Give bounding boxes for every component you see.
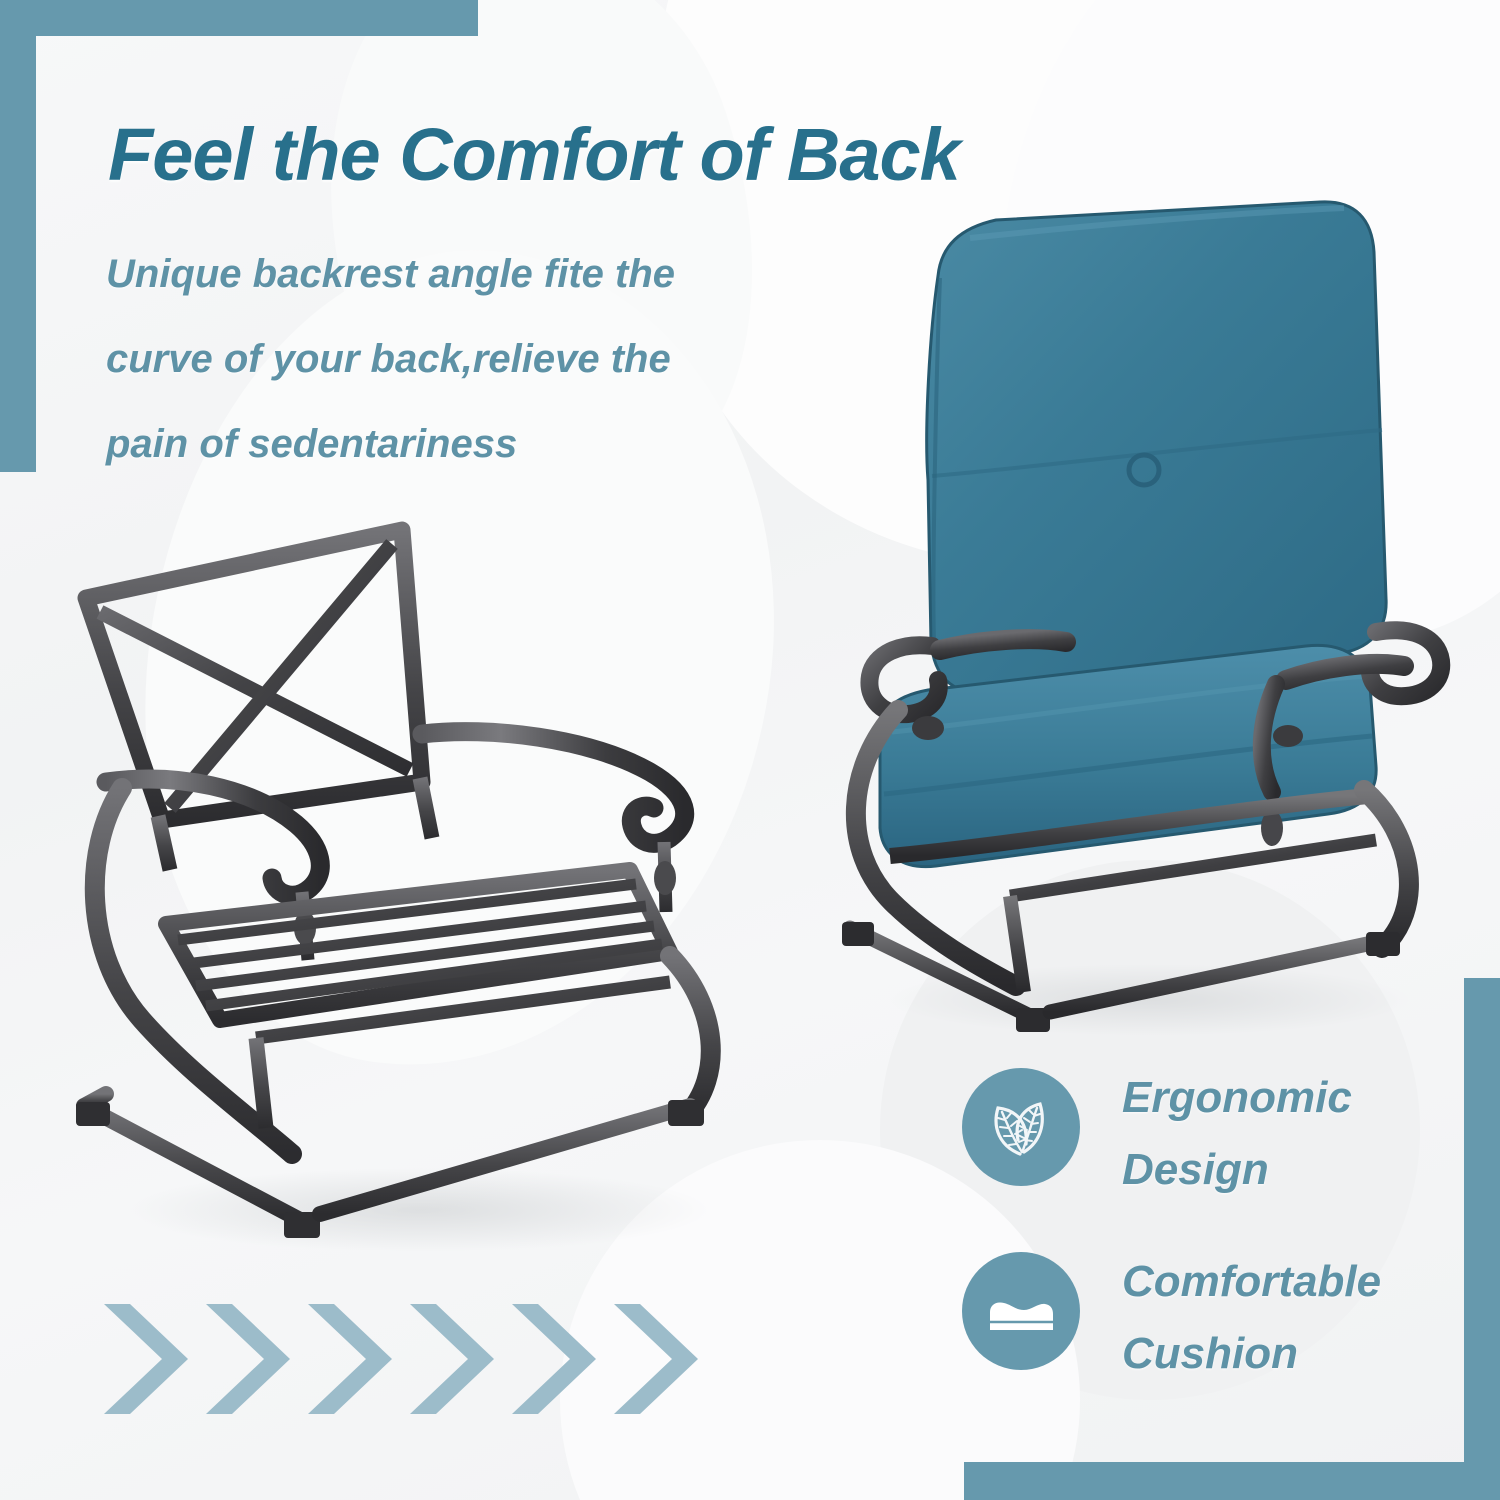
- corner-accent-top-left: [0, 0, 478, 36]
- body-line: pain of sedentariness: [106, 402, 866, 487]
- metal-frame-chair-image: [70, 520, 770, 1280]
- leaf-icon: [962, 1068, 1080, 1186]
- body-line: curve of your back,relieve the: [106, 317, 866, 402]
- chevron-right-icon: [100, 1300, 212, 1418]
- feature-label-line: Cushion: [1122, 1318, 1381, 1390]
- feature-label: Comfortable Cushion: [1122, 1246, 1381, 1390]
- chevron-right-icon: [406, 1300, 518, 1418]
- product-infographic: Feel the Comfort of Back Unique backrest…: [0, 0, 1500, 1500]
- feature-label-line: Ergonomic: [1122, 1062, 1352, 1134]
- feature-comfortable-cushion: Comfortable Cushion: [962, 1252, 1381, 1390]
- feature-label-line: Design: [1122, 1134, 1352, 1206]
- chevron-right-icon: [610, 1300, 722, 1418]
- cushioned-chair-image: [820, 180, 1470, 1060]
- body-line: Unique backrest angle fite the: [106, 232, 866, 317]
- corner-accent-bottom-right: [964, 1462, 1500, 1500]
- body-copy: Unique backrest angle fite the curve of …: [106, 232, 866, 487]
- corner-accent-top-left: [0, 0, 36, 472]
- chevron-arrow-row: [100, 1300, 800, 1420]
- cushion-icon: [962, 1252, 1080, 1370]
- feature-label-line: Comfortable: [1122, 1246, 1381, 1318]
- feature-label: Ergonomic Design: [1122, 1062, 1352, 1206]
- chevron-right-icon: [202, 1300, 314, 1418]
- chevron-right-icon: [304, 1300, 416, 1418]
- chevron-right-icon: [508, 1300, 620, 1418]
- feature-ergonomic-design: Ergonomic Design: [962, 1068, 1352, 1206]
